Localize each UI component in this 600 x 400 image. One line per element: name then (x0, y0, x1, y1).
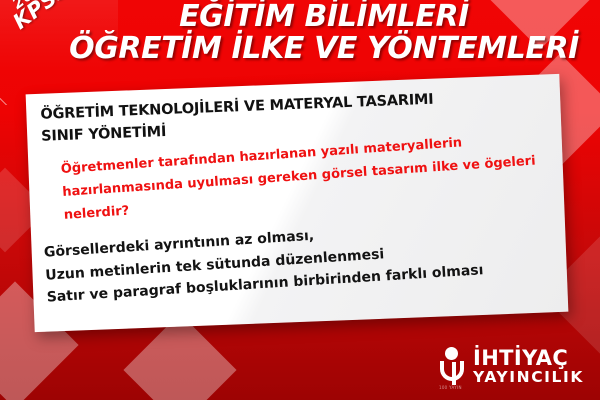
publisher-logo: 100 YAYIN İHTİYAÇ YAYINCILIK (438, 346, 584, 388)
content-card-inner: ÖĞRETİM TEKNOLOJİLERİ VE MATERYAL TASARI… (26, 74, 569, 332)
person-stem-shape (452, 362, 456, 385)
logo-micro-text: 100 YAYIN (439, 385, 462, 390)
person-head-shape (445, 347, 458, 360)
slide-canvas: 2014 KPSS EĞİTİM BİLİMLERİ ÖĞRETİM İLKE … (0, 0, 600, 400)
logo-name-line2: YAYINCILIK (473, 370, 584, 386)
logo-wordmark: İHTİYAÇ YAYINCILIK (473, 348, 584, 386)
corner-ribbon-kpss: 2014 KPSS (0, 0, 118, 105)
answer-list: Görsellerdeki ayrıntının az olması, Uzun… (43, 209, 566, 310)
person-figure-icon: 100 YAYIN (438, 346, 466, 388)
content-card: ÖĞRETİM TEKNOLOJİLERİ VE MATERYAL TASARI… (26, 74, 569, 332)
logo-name-line1: İHTİYAÇ (473, 348, 584, 369)
